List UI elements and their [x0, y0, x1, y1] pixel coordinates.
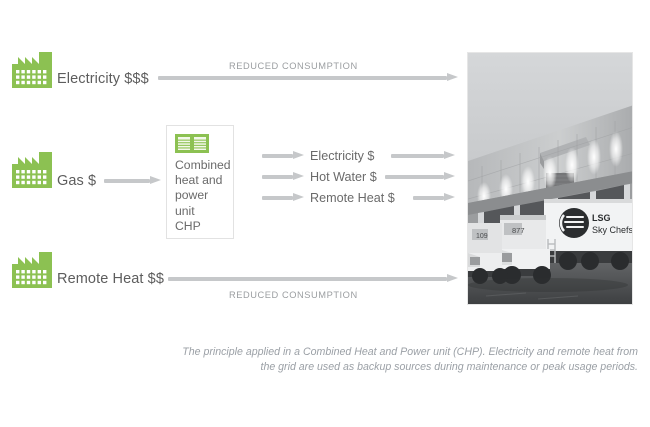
source-label-gas: Gas $ [57, 174, 96, 189]
arrow-caption-electricity: REDUCED CONSUMPTION [229, 62, 358, 71]
factory-icon-remote-heat [12, 252, 52, 288]
chp-unit-text: Combined heat and power unit CHP [175, 158, 226, 234]
factory-icon-electricity [12, 52, 52, 88]
chp-unit-box: Combined heat and power unit CHP [166, 125, 234, 239]
output-label-hot-water: Hot Water $ [310, 171, 377, 184]
svg-text:109: 109 [476, 233, 488, 240]
reduced-consumption-arrow-electricity [158, 73, 458, 82]
reduced-consumption-arrow-remote-heat [168, 274, 458, 283]
svg-text:877: 877 [512, 226, 525, 235]
arrow-caption-remote-heat: REDUCED CONSUMPTION [229, 291, 358, 300]
chp-out-arrow-hot-water [262, 172, 304, 181]
facility-photo: LSG Sky Chefs 877 [467, 52, 633, 305]
svg-text:Sky Chefs: Sky Chefs [592, 225, 633, 235]
output-label-remote-heat: Remote Heat $ [310, 192, 395, 205]
output-arrow-remote-heat-to-site [413, 193, 455, 202]
chp-building-icon [175, 134, 209, 153]
factory-icon-gas [12, 152, 52, 188]
svg-text:LSG: LSG [592, 213, 611, 223]
gas-to-chp-arrow [104, 176, 161, 185]
output-label-electricity: Electricity $ [310, 150, 374, 163]
output-arrow-electricity-to-site [391, 151, 455, 160]
output-arrow-hot-water-to-site [385, 172, 455, 181]
diagram-canvas: Electricity $$$ REDUCED CONSUMPTION [0, 0, 650, 427]
source-label-electricity: Electricity $$$ [57, 72, 149, 87]
chp-out-arrow-electricity [262, 151, 304, 160]
source-label-remote-heat: Remote Heat $$ [57, 272, 164, 287]
chp-out-arrow-remote-heat [262, 193, 304, 202]
diagram-caption: The principle applied in a Combined Heat… [168, 345, 638, 375]
